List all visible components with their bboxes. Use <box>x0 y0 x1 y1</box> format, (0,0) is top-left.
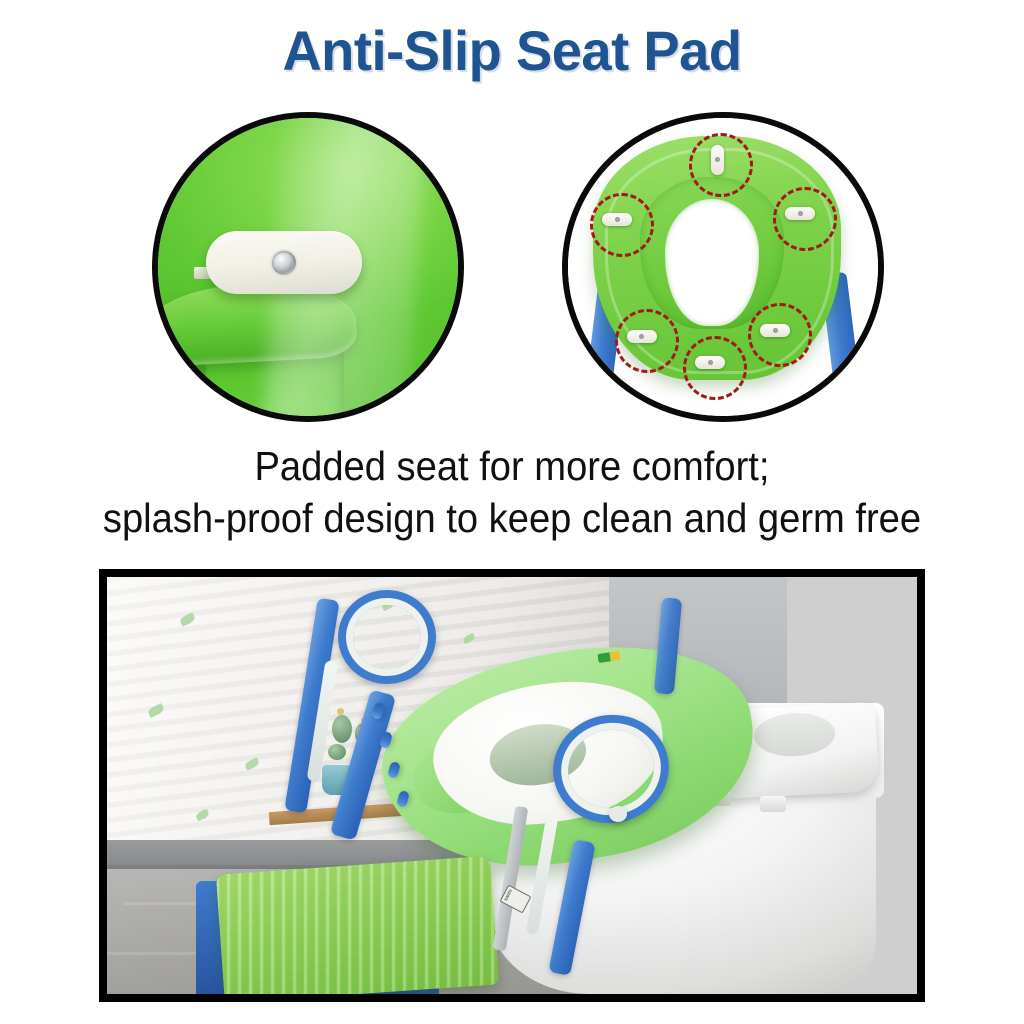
handle-ring-left <box>338 590 436 684</box>
feature-caption: Padded seat for more comfort; splash-pro… <box>36 440 988 544</box>
inset-seat-underside <box>562 112 884 422</box>
cactus-pad <box>328 744 346 760</box>
toilet-lid-recess <box>753 711 836 758</box>
anti-slip-pad <box>206 231 362 294</box>
marker-circle-bottom <box>683 336 747 400</box>
pad-closeup-image <box>158 118 458 416</box>
pad-rivet-icon <box>272 251 296 275</box>
marker-circle-left <box>590 193 654 257</box>
product-photo: sarim <box>107 577 917 994</box>
marker-circle-bottom-right <box>748 303 812 367</box>
caption-line-2: splash-proof design to keep clean and ge… <box>36 492 988 544</box>
marker-circle-right <box>773 187 837 251</box>
cactus-pad <box>332 715 352 743</box>
page-title: Anti-Slip Seat Pad <box>15 18 1008 83</box>
marker-circle-top <box>689 133 753 197</box>
inset-anti-slip-pad-closeup <box>152 112 464 422</box>
product-photo-frame: sarim <box>99 569 925 1002</box>
green-footstep <box>216 855 500 994</box>
caption-line-1: Padded seat for more comfort; <box>36 440 988 492</box>
seat-underside-image <box>568 118 878 416</box>
handle-ring-inner <box>346 598 428 676</box>
marker-circle-bottom-left <box>615 309 679 373</box>
toilet-hinge <box>760 796 786 812</box>
seat-clip-tab <box>598 651 621 663</box>
